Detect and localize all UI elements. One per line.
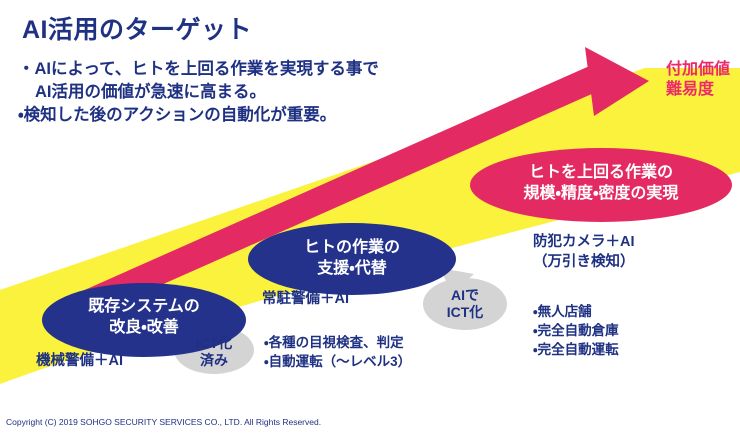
stage-middle-label: ヒトの作業の 支援・代替 (248, 238, 456, 280)
stage-right-label: ヒトを上回る作業の 規模・精度・密度の実現 (470, 163, 732, 205)
stage-right-caption-line-1: 防犯カメラ＋AI (533, 233, 635, 253)
lead-line-1: ・AIによって、ヒトを上回る作業を実現する事で (18, 60, 379, 78)
callout-middle-line-1: AIで (428, 287, 502, 304)
list-item: ・無人店舗 (533, 302, 619, 321)
stage-middle-label-line-1: ヒトの作業の (248, 238, 456, 259)
value-axis-label: 付加価値 難易度 (666, 60, 730, 101)
callout-left-line-1: ICT化 (178, 335, 250, 352)
stage-right-caption-line-2: （万引き検知） (533, 253, 635, 273)
list-item: ・完全自動倉庫 (533, 321, 619, 340)
callout-left-line-2: 済み (178, 352, 250, 369)
stage-left-label-line-1: 既存システムの (48, 297, 240, 318)
stage-right-label-line-1: ヒトを上回る作業の (470, 163, 732, 184)
page-title: AI活用のターゲット (22, 10, 252, 46)
stage-right-label-line-2: 規模・精度・密度の実現 (470, 184, 732, 205)
callout-middle-text: AIで ICT化 (428, 287, 502, 321)
stage-right-caption: 防犯カメラ＋AI （万引き検知） (533, 233, 635, 272)
list-item: ・自動運転（〜レベル3） (264, 352, 411, 371)
callout-left-text: ICT化 済み (178, 335, 250, 369)
list-item: ・各種の目視検査、判定 (264, 333, 411, 352)
stage-right-bullets: ・無人店舗 ・完全自動倉庫 ・完全自動運転 (533, 302, 619, 359)
axis-label-line-1: 付加価値 (666, 60, 730, 80)
lead-line-2: AI活用の価値が急速に高まる。 (18, 81, 379, 104)
stage-middle-label-line-2: 支援・代替 (248, 259, 456, 280)
callout-middle-line-2: ICT化 (428, 304, 502, 321)
lead-line-3: ・検知した後のアクションの自動化が重要。 (18, 106, 336, 124)
lead-paragraph: ・AIによって、ヒトを上回る作業を実現する事で AI活用の価値が急速に高まる。 … (18, 58, 379, 126)
stage-left-label: 既存システムの 改良・改善 (48, 297, 240, 339)
stage-middle-bullets: ・各種の目視検査、判定 ・自動運転（〜レベル3） (264, 333, 411, 371)
slide-canvas: AI活用のターゲット ・AIによって、ヒトを上回る作業を実現する事で AI活用の… (0, 0, 740, 433)
copyright-notice: Copyright (C) 2019 SOHGO SECURITY SERVIC… (6, 417, 321, 427)
stage-middle-caption: 常駐警備＋AI (262, 290, 349, 310)
stage-left-caption: 機械警備＋AI (36, 352, 123, 372)
axis-label-line-2: 難易度 (666, 80, 730, 100)
list-item: ・完全自動運転 (533, 340, 619, 359)
